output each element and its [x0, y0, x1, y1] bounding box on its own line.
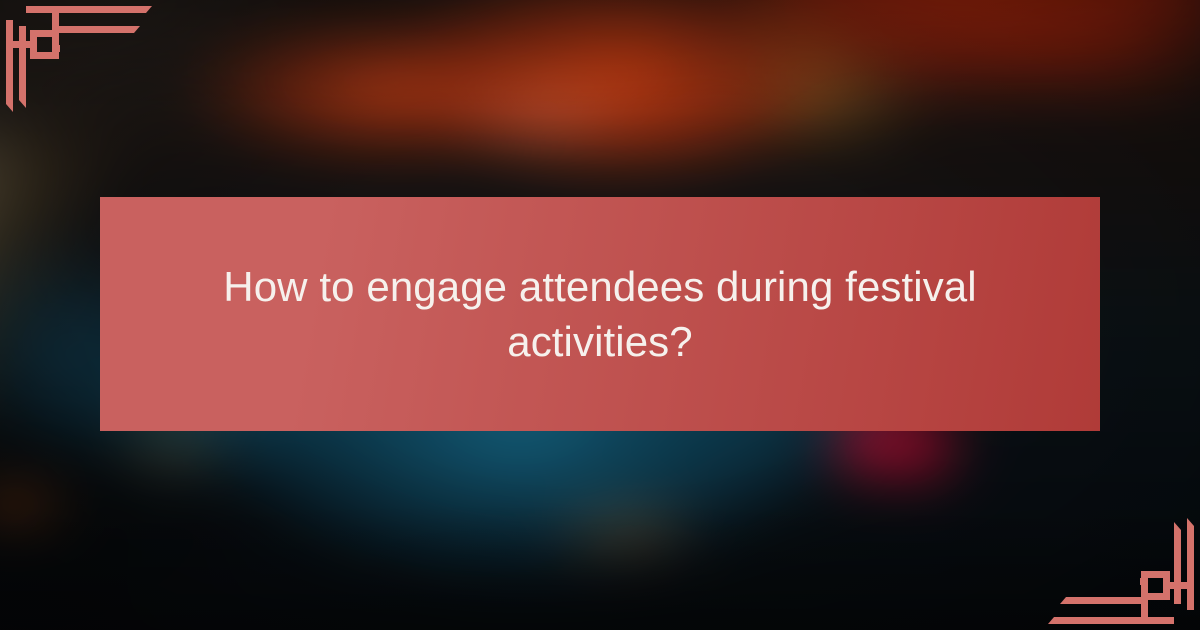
question-title: How to engage attendees during festival … — [144, 259, 1056, 370]
question-card: How to engage attendees during festival … — [0, 0, 1200, 630]
question-banner: How to engage attendees during festival … — [100, 197, 1100, 431]
